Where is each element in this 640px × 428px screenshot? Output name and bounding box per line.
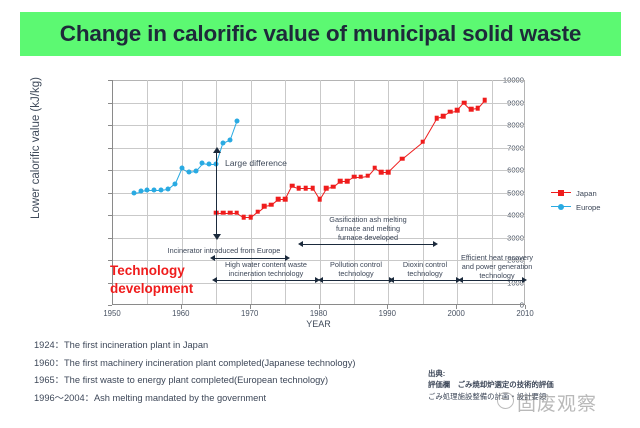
- x-tick-label-1950: 1950: [92, 309, 132, 318]
- data-point-jp: [297, 186, 302, 191]
- x-tick-mark: [525, 305, 526, 309]
- data-point-jp: [303, 186, 308, 191]
- x-tick-mark: [319, 305, 320, 309]
- data-point-jp: [283, 197, 288, 202]
- legend-label-japan: Japan: [576, 189, 597, 198]
- data-point-eu: [166, 187, 171, 192]
- data-point-jp: [441, 114, 446, 119]
- data-point-jp: [248, 215, 253, 220]
- data-point-eu: [228, 137, 233, 142]
- data-point-jp: [482, 98, 487, 103]
- x-tick-label-2000: 2000: [436, 309, 476, 318]
- band-arrow-gasification: [303, 244, 433, 245]
- title-banner: Change in calorific value of municipal s…: [20, 12, 621, 56]
- footnote-item: 1960：The first machinery incineration pl…: [34, 355, 424, 373]
- data-point-eu: [131, 190, 136, 195]
- data-point-eu: [138, 189, 143, 194]
- data-point-jp: [269, 203, 274, 208]
- footnote-item: 1965：The first waste to energy plant com…: [34, 372, 424, 390]
- data-point-jp: [352, 174, 357, 179]
- data-point-jp: [365, 173, 370, 178]
- band-label-heat-recovery: Efficient heat recovery and power genera…: [453, 253, 541, 280]
- technology-development-line1: Technology: [110, 262, 193, 280]
- data-point-jp: [228, 210, 233, 215]
- band-arrow-pollution-control: [323, 280, 389, 281]
- x-tick-mark: [181, 305, 182, 309]
- band-arrow-heat-recovery: [463, 280, 522, 281]
- watermark-logo-icon: [497, 392, 514, 409]
- data-point-jp: [255, 209, 260, 214]
- y-tick-mark: [108, 305, 112, 306]
- data-point-jp: [462, 100, 467, 105]
- page-title: Change in calorific value of municipal s…: [60, 21, 581, 47]
- band-arrow-incinerator: [215, 258, 285, 259]
- data-point-jp: [434, 116, 439, 121]
- chart-legend: Japan Europe: [551, 186, 601, 214]
- legend-swatch-japan: [551, 189, 571, 197]
- data-point-jp: [372, 165, 377, 170]
- band-label-heat-line1: Efficient heat recovery: [453, 253, 541, 262]
- data-point-eu: [193, 169, 198, 174]
- x-tick-mark: [387, 305, 388, 309]
- band-label-gasification-line1: Gasification ash melting: [283, 215, 453, 224]
- watermark-text: 固废观察: [517, 389, 597, 416]
- x-tick-label-2010: 2010: [505, 309, 545, 318]
- data-point-jp: [290, 183, 295, 188]
- footnote-item: 1996～2004：Ash melting mandated by the go…: [34, 390, 424, 408]
- data-point-jp: [262, 204, 267, 209]
- large-difference-label: Large difference: [225, 158, 287, 168]
- chart-figure: Lower calorific value (kJ/kg) 0 1000 200…: [0, 60, 640, 330]
- data-point-jp: [241, 215, 246, 220]
- legend-item-europe: Europe: [551, 200, 601, 214]
- data-point-eu: [179, 165, 184, 170]
- data-point-eu: [221, 141, 226, 146]
- source-line-1: 出典:: [428, 368, 628, 379]
- band-arrow-dioxin-control: [394, 280, 456, 281]
- data-point-eu: [234, 118, 239, 123]
- x-tick-label-1980: 1980: [299, 309, 339, 318]
- data-point-jp: [379, 170, 384, 175]
- series-line-segment-jp: [402, 142, 423, 160]
- data-point-jp: [420, 140, 425, 145]
- x-tick-label-1970: 1970: [230, 309, 270, 318]
- band-label-gasification: Gasification ash melting furnace and mel…: [283, 215, 453, 242]
- x-tick-mark: [456, 305, 457, 309]
- band-label-heat-line2: and power generation: [453, 262, 541, 271]
- data-point-eu: [152, 188, 157, 193]
- footnote-list: 1924：The first incineration plant in Jap…: [34, 337, 424, 407]
- band-label-high-water-line1: High water content waste: [206, 260, 326, 269]
- legend-item-japan: Japan: [551, 186, 601, 200]
- data-point-jp: [359, 174, 364, 179]
- band-label-incinerator: Incinerator introduced from Europe: [139, 246, 309, 255]
- x-axis-title: YEAR: [112, 319, 525, 329]
- x-tick-label-1960: 1960: [161, 309, 201, 318]
- technology-development-line2: development: [110, 280, 193, 298]
- band-label-pollution-line1: Pollution control: [315, 260, 397, 269]
- band-label-heat-line3: technology: [453, 271, 541, 280]
- data-point-jp: [221, 210, 226, 215]
- band-label-high-water-line2: incineration technology: [206, 269, 326, 278]
- data-point-jp: [386, 170, 391, 175]
- x-tick-label-1990: 1990: [367, 309, 407, 318]
- legend-swatch-europe: [551, 203, 571, 211]
- band-label-pollution-line2: technology: [315, 269, 397, 278]
- band-label-high-water-content: High water content waste incineration te…: [206, 260, 326, 278]
- x-tick-mark: [250, 305, 251, 309]
- data-point-jp: [345, 179, 350, 184]
- data-point-jp: [276, 197, 281, 202]
- data-point-jp: [400, 156, 405, 161]
- data-point-jp: [338, 179, 343, 184]
- data-point-jp: [455, 108, 460, 113]
- data-point-eu: [159, 188, 164, 193]
- data-point-jp: [331, 185, 336, 190]
- data-point-eu: [172, 181, 177, 186]
- data-point-jp: [476, 106, 481, 111]
- data-point-jp: [235, 210, 240, 215]
- band-label-pollution-control: Pollution control technology: [315, 260, 397, 278]
- footnote-item: 1924：The first incineration plant in Jap…: [34, 337, 424, 355]
- large-difference-arrow: [216, 152, 217, 235]
- data-point-jp: [469, 107, 474, 112]
- data-point-jp: [317, 197, 322, 202]
- data-point-eu: [186, 170, 191, 175]
- band-label-gasification-line3: furnace developed: [283, 233, 453, 242]
- legend-label-europe: Europe: [576, 203, 601, 212]
- data-point-eu: [207, 162, 212, 167]
- data-point-jp: [310, 186, 315, 191]
- plot-area: Large difference Technology development …: [112, 80, 525, 305]
- data-point-eu: [200, 161, 205, 166]
- y-axis-title: Lower calorific value (kJ/kg): [30, 48, 42, 248]
- data-point-jp: [448, 109, 453, 114]
- band-arrow-high-water-content: [217, 280, 315, 281]
- data-point-jp: [324, 186, 329, 191]
- data-point-eu: [145, 188, 150, 193]
- band-label-gasification-line2: furnace and melting: [283, 224, 453, 233]
- technology-development-label: Technology development: [110, 262, 193, 298]
